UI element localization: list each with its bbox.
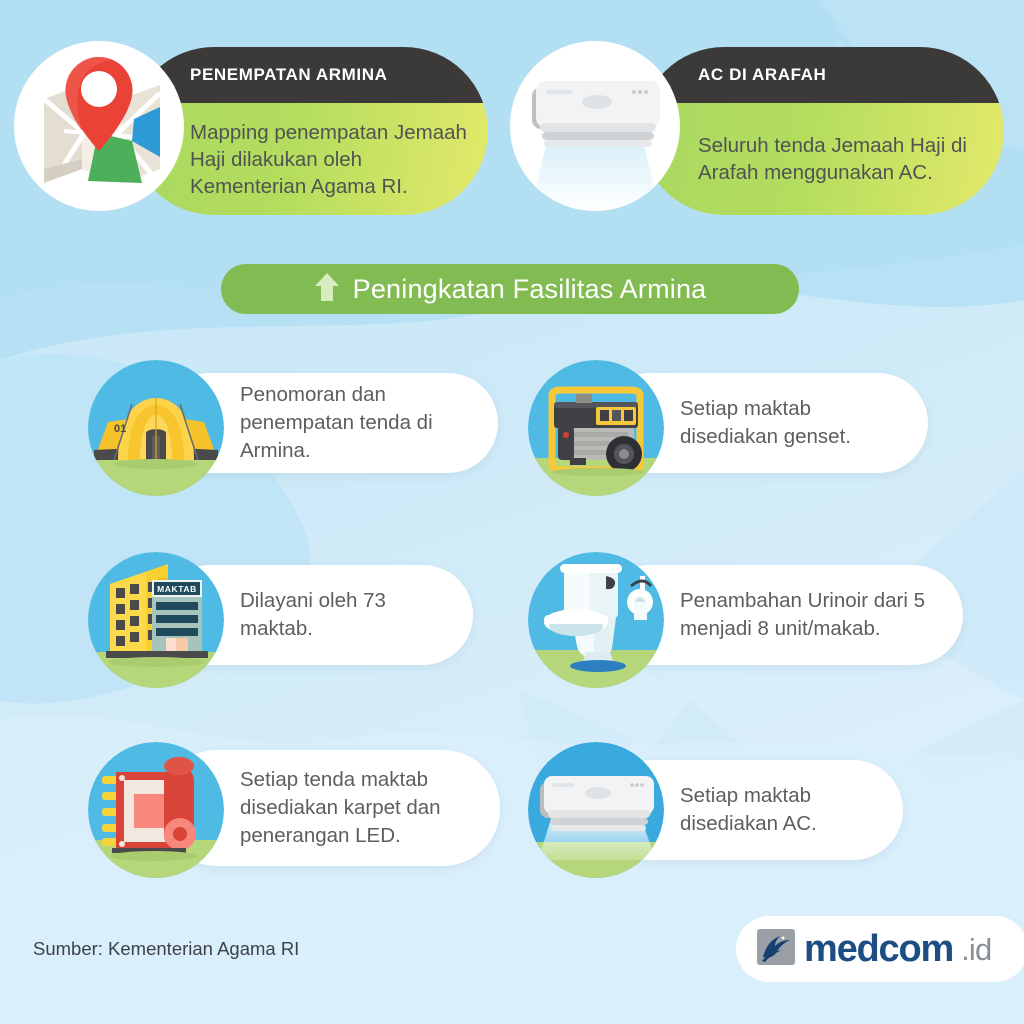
svg-text:01: 01 <box>114 423 126 435</box>
air-conditioner-icon <box>528 742 664 878</box>
feature-item-genset: Setiap maktab disediakan genset. <box>528 360 928 486</box>
section-banner: Peningkatan Fasilitas Armina <box>221 264 799 314</box>
section-title: Peningkatan Fasilitas Armina <box>353 274 707 305</box>
feature-item-ac-maktab: Setiap maktab disediakan AC. <box>528 740 903 880</box>
feature-item-maktab-73: Dilayani oleh 73 maktab. <box>88 552 473 678</box>
map-pin-icon <box>14 41 184 211</box>
toilet-icon <box>528 552 664 688</box>
feature-item-karpet-led: Setiap tenda maktab disediakan karpet da… <box>88 740 500 880</box>
hero-card-header: AC DI ARAFAH <box>640 47 1004 103</box>
medcom-suffix: .id <box>961 934 991 965</box>
hero-card-body: Seluruh tenda Jemaah Haji di Arafah meng… <box>640 103 1004 215</box>
medcom-wordmark: medcom <box>804 930 953 968</box>
generator-icon <box>528 360 664 496</box>
maktab-building-icon: MAKTAB <box>88 552 224 688</box>
hero-card-text: Seluruh tenda Jemaah Haji di Arafah meng… <box>640 132 1004 186</box>
source-note: Sumber: Kementerian Agama RI <box>33 938 299 960</box>
carpet-roll-icon <box>88 742 224 878</box>
feature-item-penomoran-tenda: Penomoran dan penempatan tenda di Armina… <box>88 360 498 486</box>
hero-card-ac-di-arafah: AC DI ARAFAH Seluruh tenda Jemaah Haji d… <box>640 47 1004 215</box>
svg-text:MAKTAB: MAKTAB <box>157 584 197 594</box>
tent-icon: 01 <box>88 360 224 496</box>
feature-item-urinoir: Penambahan Urinoir dari 5 menjadi 8 unit… <box>528 552 963 678</box>
air-conditioner-icon <box>510 41 680 211</box>
hero-card-header: PENEMPATAN ARMINA <box>130 47 488 103</box>
medcom-eagle-icon <box>756 927 796 972</box>
medcom-logo[interactable]: medcom .id <box>736 916 1024 982</box>
arrow-up-icon <box>314 272 340 307</box>
